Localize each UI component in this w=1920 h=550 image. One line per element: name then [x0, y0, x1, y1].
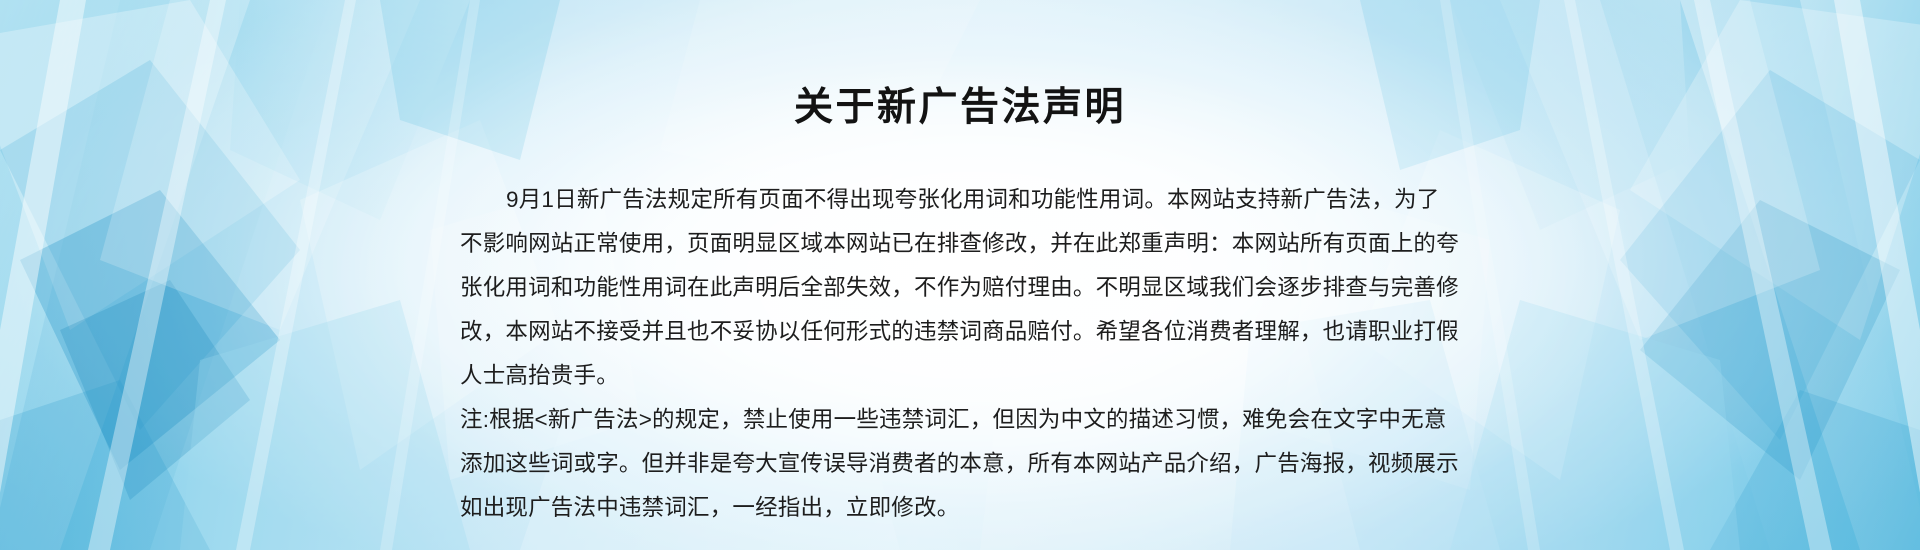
- statement-paragraph-1: 9月1日新广告法规定所有页面不得出现夸张化用词和功能性用词。本网站支持新广告法，…: [460, 178, 1460, 398]
- statement-paragraph-2: 注:根据<新广告法>的规定，禁止使用一些违禁词汇，但因为中文的描述习惯，难免会在…: [460, 398, 1460, 530]
- statement-body: 9月1日新广告法规定所有页面不得出现夸张化用词和功能性用词。本网站支持新广告法，…: [460, 178, 1460, 530]
- page-title: 关于新广告法声明: [0, 86, 1920, 130]
- banner-content: 关于新广告法声明 9月1日新广告法规定所有页面不得出现夸张化用词和功能性用词。本…: [0, 0, 1920, 550]
- legal-statement-banner: 关于新广告法声明 9月1日新广告法规定所有页面不得出现夸张化用词和功能性用词。本…: [0, 0, 1920, 550]
